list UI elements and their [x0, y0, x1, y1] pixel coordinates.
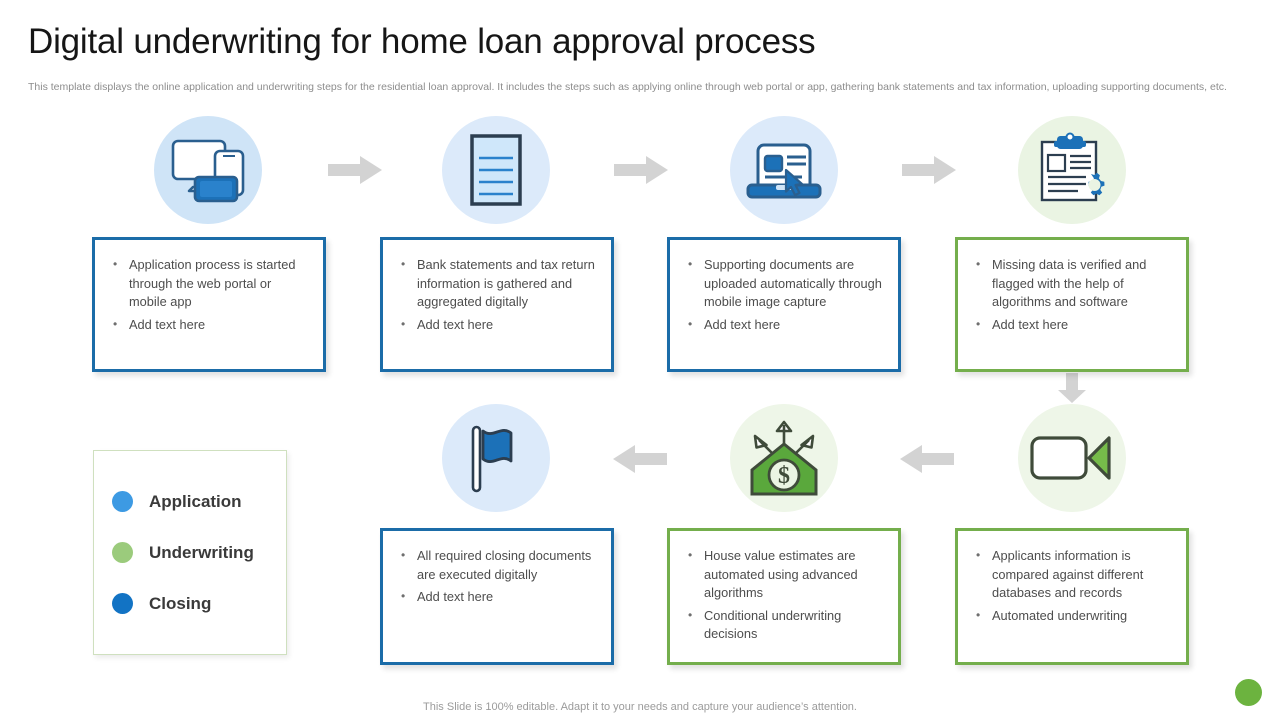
- step-5-text-box[interactable]: Applicants information is compared again…: [955, 528, 1189, 665]
- step-6-bullet-list: House value estimates are automated usin…: [684, 547, 886, 644]
- step-1-icon-circle: [154, 116, 262, 224]
- step-7-bullet-list: All required closing documents are execu…: [397, 547, 599, 607]
- list-item: Missing data is verified and flagged wit…: [972, 256, 1174, 312]
- legend-label: Underwriting: [149, 543, 254, 563]
- step-4-icon-circle: [1018, 116, 1126, 224]
- video-camera-icon: [1029, 430, 1115, 486]
- green-circle-badge: [1235, 679, 1262, 706]
- laptop-upload-cursor-icon: [744, 137, 824, 203]
- list-item: Conditional underwriting decisions: [684, 607, 886, 644]
- list-item: Add text here: [684, 316, 886, 335]
- list-item: Application process is started through t…: [109, 256, 311, 312]
- step-1-bullet-list: Application process is started through t…: [109, 256, 311, 334]
- list-item: Add text here: [109, 316, 311, 335]
- legend-item-underwriting[interactable]: Underwriting: [112, 542, 286, 563]
- step-4-bullet-list: Missing data is verified and flagged wit…: [972, 256, 1174, 334]
- step-7-text-box[interactable]: All required closing documents are execu…: [380, 528, 614, 665]
- flow-arrow-6: [613, 445, 667, 473]
- step-2-text-box[interactable]: Bank statements and tax return informati…: [380, 237, 614, 372]
- list-item: Bank statements and tax return informati…: [397, 256, 599, 312]
- legend-label: Application: [149, 492, 242, 512]
- list-item: Applicants information is compared again…: [972, 547, 1174, 603]
- document-lines-icon: [466, 132, 526, 208]
- svg-text:$: $: [778, 463, 790, 489]
- step-7-icon-circle: [442, 404, 550, 512]
- step-3-bullet-list: Supporting documents are uploaded automa…: [684, 256, 886, 334]
- step-2-icon-circle: [442, 116, 550, 224]
- step-2-bullet-list: Bank statements and tax return informati…: [397, 256, 599, 334]
- slide-canvas: Digital underwriting for home loan appro…: [0, 0, 1280, 720]
- step-5-icon-circle: [1018, 404, 1126, 512]
- legend-dot-icon: [112, 542, 133, 563]
- legend-item-closing[interactable]: Closing: [112, 593, 286, 614]
- flow-arrow-4-down: [1058, 373, 1086, 403]
- legend-panel: Application Underwriting Closing: [93, 450, 287, 655]
- legend-label: Closing: [149, 594, 211, 614]
- list-item: All required closing documents are execu…: [397, 547, 599, 584]
- step-6-text-box[interactable]: House value estimates are automated usin…: [667, 528, 901, 665]
- flag-icon: [465, 422, 527, 494]
- list-item: Add text here: [397, 588, 599, 607]
- house-value-dollar-arrows-icon: $: [742, 418, 826, 498]
- flow-arrow-3: [902, 156, 956, 184]
- page-title: Digital underwriting for home loan appro…: [28, 22, 815, 62]
- step-4-text-box[interactable]: Missing data is verified and flagged wit…: [955, 237, 1189, 372]
- list-item: Add text here: [397, 316, 599, 335]
- page-subtitle: This template displays the online applic…: [28, 80, 1260, 94]
- step-6-icon-circle: $: [730, 404, 838, 512]
- flow-arrow-2: [614, 156, 668, 184]
- step-1-text-box[interactable]: Application process is started through t…: [92, 237, 326, 372]
- legend-dot-icon: [112, 593, 133, 614]
- step-3-icon-circle: [730, 116, 838, 224]
- devices-monitor-tablet-phone-icon: [169, 135, 247, 205]
- step-3-text-box[interactable]: Supporting documents are uploaded automa…: [667, 237, 901, 372]
- list-item: Automated underwriting: [972, 607, 1174, 626]
- footer-note: This Slide is 100% editable. Adapt it to…: [0, 701, 1280, 713]
- flow-arrow-1: [328, 156, 382, 184]
- legend-dot-icon: [112, 491, 133, 512]
- legend-item-application[interactable]: Application: [112, 491, 286, 512]
- step-5-bullet-list: Applicants information is compared again…: [972, 547, 1174, 625]
- list-item: Add text here: [972, 316, 1174, 335]
- clipboard-gear-icon: [1034, 132, 1110, 208]
- flow-arrow-5: [900, 445, 954, 473]
- list-item: Supporting documents are uploaded automa…: [684, 256, 886, 312]
- list-item: House value estimates are automated usin…: [684, 547, 886, 603]
